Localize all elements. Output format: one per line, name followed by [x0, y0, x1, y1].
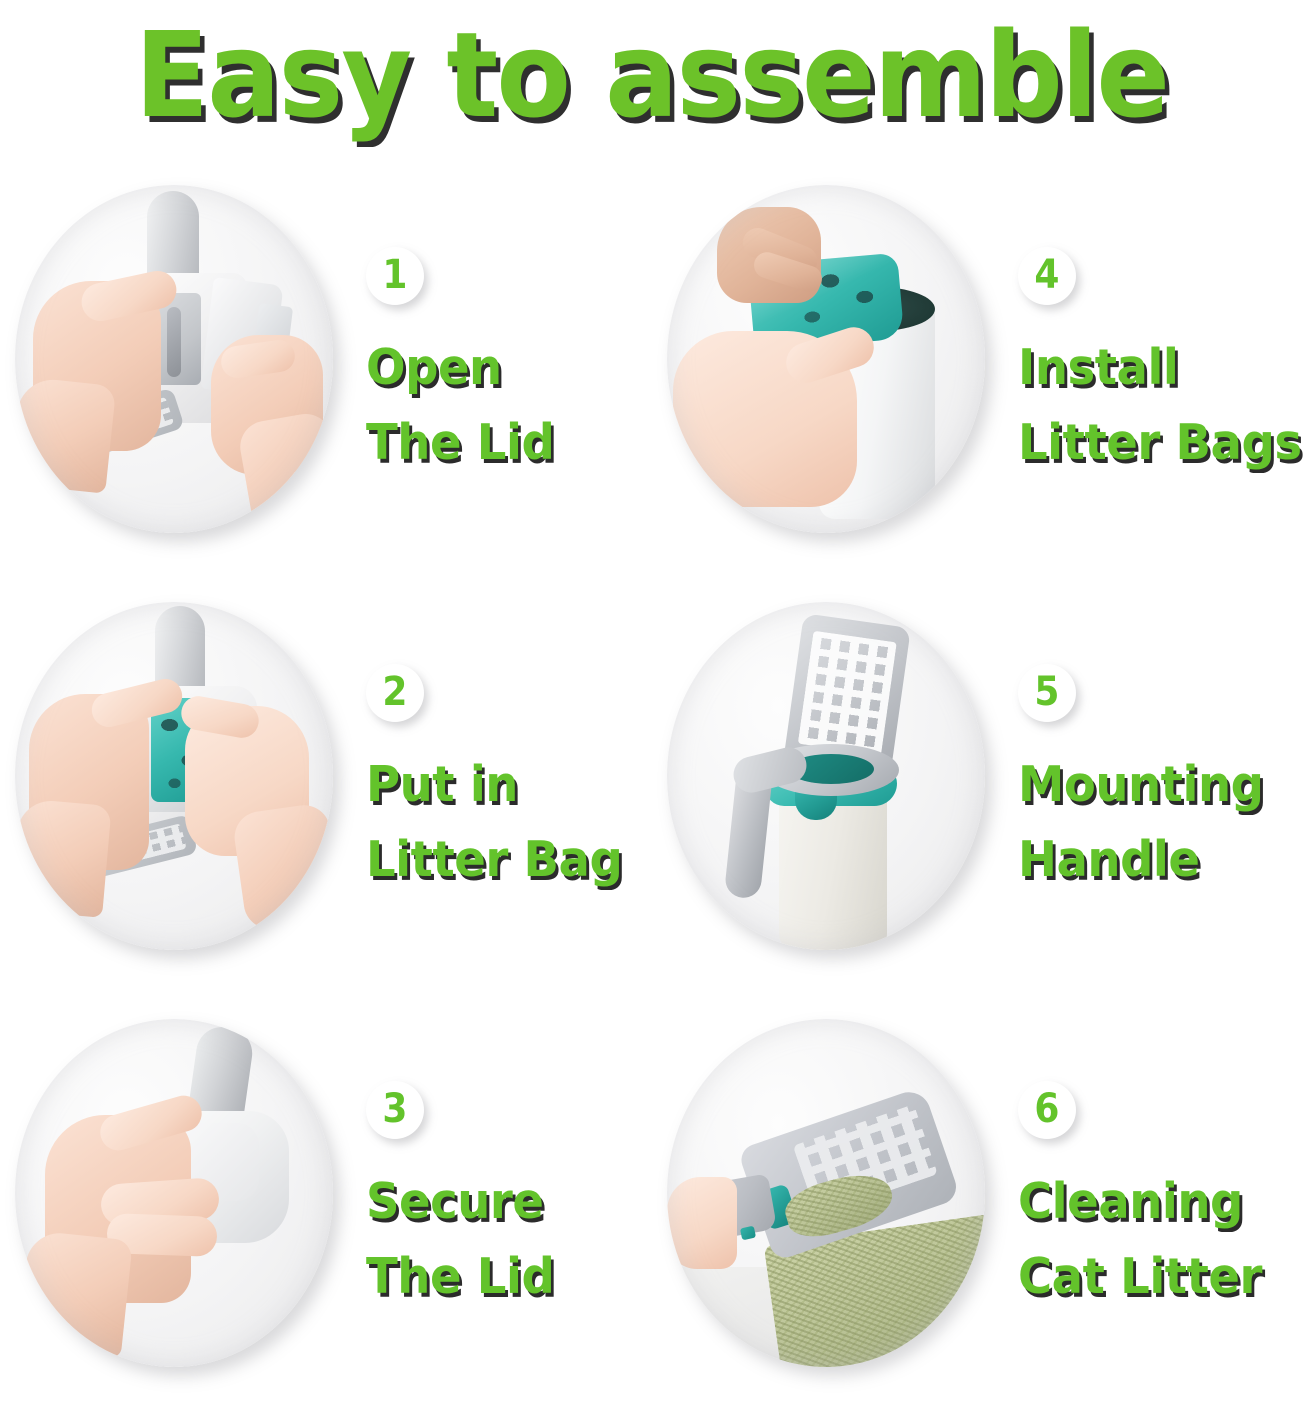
step-caption-4-line1: Install [1018, 331, 1302, 405]
step-caption-1-line1: Open [366, 331, 638, 405]
step-text-5: 5 Mounting Handle [1000, 567, 1304, 984]
step-number-6: 6 [1034, 1089, 1059, 1129]
step-card-1: 1 Open The Lid [0, 150, 652, 567]
step-caption-2-line2: Litter Bag [366, 823, 638, 897]
step-text-3: 3 Secure The Lid [348, 984, 652, 1401]
right-wrist [231, 801, 333, 931]
step-caption-6-line1: Cleaning [1018, 1165, 1290, 1239]
step-photo-3 [15, 1019, 333, 1367]
step-number-badge-2: 2 [366, 664, 424, 722]
step-caption-3-line1: Secure [366, 1165, 638, 1239]
scene-mounting-handle [667, 602, 985, 950]
step-card-2: 2 Put in Litter Bag [0, 567, 652, 984]
right-wrist [236, 409, 333, 532]
wrist [17, 1229, 133, 1357]
step-number-badge-5: 5 [1018, 664, 1076, 722]
hand-holding-scoop [667, 1177, 737, 1269]
step-caption-1-line2: The Lid [366, 406, 638, 480]
step-caption-5-line1: Mounting [1018, 748, 1290, 822]
step-card-6: 6 Cleaning Cat Litter [652, 984, 1304, 1401]
step-number-3: 3 [382, 1089, 407, 1129]
left-wrist [15, 798, 112, 918]
step-card-4: 4 Install Litter Bags [652, 150, 1304, 567]
step-photo-4 [667, 185, 985, 533]
step-photo-5 [667, 602, 985, 950]
step-text-2: 2 Put in Litter Bag [348, 567, 652, 984]
step-photo-wrap-4 [652, 169, 1000, 549]
product-inner-bar [167, 307, 181, 377]
step-photo-wrap-2 [0, 586, 348, 966]
step-number-2: 2 [382, 672, 407, 712]
step-number-4: 4 [1034, 255, 1059, 295]
page-header: Easy to assemble [0, 0, 1304, 150]
teal-clip [740, 1225, 756, 1240]
step-number-5: 5 [1034, 672, 1059, 712]
step-photo-1 [15, 185, 333, 533]
step-caption-3-line2: The Lid [366, 1240, 638, 1314]
step-photo-6 [667, 1019, 985, 1367]
step-caption-5-line2: Handle [1018, 823, 1290, 897]
left-wrist [15, 376, 116, 493]
scene-cleaning-cat-litter [667, 1019, 985, 1367]
step-card-3: 3 Secure The Lid [0, 984, 652, 1401]
step-text-1: 1 Open The Lid [348, 150, 652, 567]
step-caption-4-line2: Litter Bags [1018, 406, 1302, 480]
scene-install-litter-bags [667, 185, 985, 533]
step-number-badge-6: 6 [1018, 1081, 1076, 1139]
step-number-badge-4: 4 [1018, 247, 1076, 305]
step-photo-wrap-6 [652, 1003, 1000, 1383]
step-number-badge-1: 1 [366, 247, 424, 305]
step-text-4: 4 Install Litter Bags [1000, 150, 1304, 567]
step-caption-2-line1: Put in [366, 748, 638, 822]
scene-put-in-litter-bag [15, 602, 333, 950]
infographic-page: Easy to assemble [0, 0, 1304, 1401]
step-photo-2 [15, 602, 333, 950]
step-number-1: 1 [382, 255, 407, 295]
step-photo-wrap-1 [0, 169, 348, 549]
scene-secure-the-lid [15, 1019, 333, 1367]
step-text-6: 6 Cleaning Cat Litter [1000, 984, 1304, 1401]
step-photo-wrap-3 [0, 1003, 348, 1383]
step-caption-6-line2: Cat Litter [1018, 1240, 1290, 1314]
step-photo-wrap-5 [652, 586, 1000, 966]
scene-open-the-lid [15, 185, 333, 533]
step-card-5: 5 Mounting Handle [652, 567, 1304, 984]
step-number-badge-3: 3 [366, 1081, 424, 1139]
steps-grid: 1 Open The Lid [0, 150, 1304, 1401]
page-title: Easy to assemble [135, 16, 1168, 134]
